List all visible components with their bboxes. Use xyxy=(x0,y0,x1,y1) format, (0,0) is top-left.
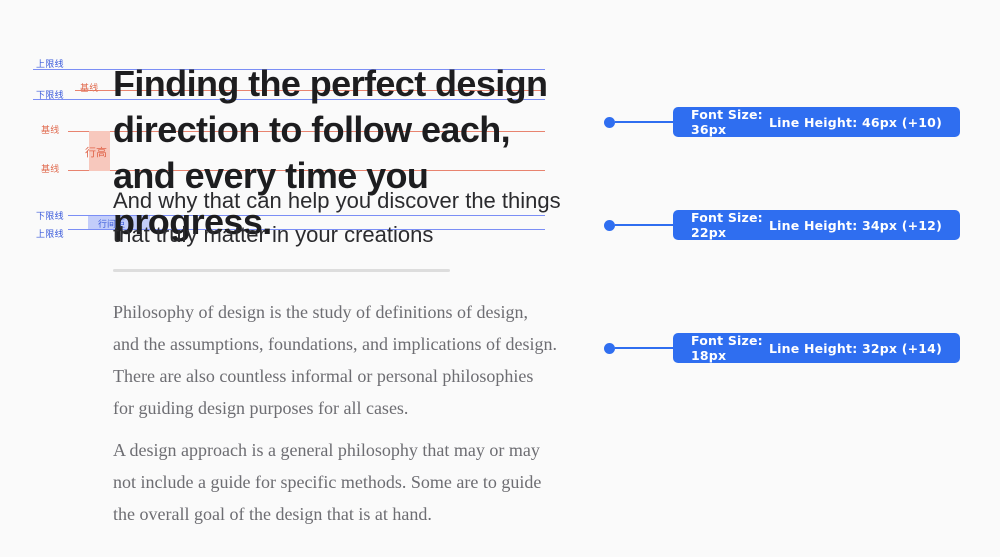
callout-connector-line xyxy=(615,224,673,226)
metrics-badge[interactable]: Font Size: 18px Line Height: 32px (+14) xyxy=(673,333,960,363)
guide-label-baseline-1: 基线 xyxy=(80,81,99,94)
typography-spec-canvas: 上限线 基线 下限线 基线 基线 行高 下限线 上限线 行间距 Finding … xyxy=(0,0,1000,557)
callout-dot-icon xyxy=(604,343,615,354)
guide-label-cap-2: 上限线 xyxy=(36,227,64,240)
metrics-badge[interactable]: Font Size: 36px Line Height: 46px (+10) xyxy=(673,107,960,137)
callout-dot-icon xyxy=(604,117,615,128)
font-size-value: Font Size: 36px xyxy=(691,107,769,137)
guide-label-baseline-3: 基线 xyxy=(41,162,60,175)
guide-label-baseline-2: 基线 xyxy=(41,123,60,136)
callout-subhead-metrics: Font Size: 22px Line Height: 34px (+12) xyxy=(604,210,960,240)
callout-body-metrics: Font Size: 18px Line Height: 32px (+14) xyxy=(604,333,960,363)
callout-connector-line xyxy=(615,121,673,123)
guide-label-lower-1: 下限线 xyxy=(36,88,64,101)
body-paragraph-2: A design approach is a general philosoph… xyxy=(113,434,558,530)
line-height-measure-label: 行高 xyxy=(85,144,107,160)
guide-label-cap-top: 上限线 xyxy=(36,57,64,70)
metrics-badge[interactable]: Font Size: 22px Line Height: 34px (+12) xyxy=(673,210,960,240)
line-height-value: Line Height: 34px (+12) xyxy=(769,218,942,233)
guide-label-lower-2: 下限线 xyxy=(36,209,64,222)
font-size-value: Font Size: 18px xyxy=(691,333,769,363)
callout-connector-line xyxy=(615,347,673,349)
callout-dot-icon xyxy=(604,220,615,231)
line-height-value: Line Height: 32px (+14) xyxy=(769,341,942,356)
subheading-text: And why that can help you discover the t… xyxy=(113,184,563,252)
callout-headline-metrics: Font Size: 36px Line Height: 46px (+10) xyxy=(604,107,960,137)
line-height-value: Line Height: 46px (+10) xyxy=(769,115,942,130)
font-size-value: Font Size: 22px xyxy=(691,210,769,240)
section-divider xyxy=(113,269,450,272)
body-paragraph-1: Philosophy of design is the study of def… xyxy=(113,296,558,424)
